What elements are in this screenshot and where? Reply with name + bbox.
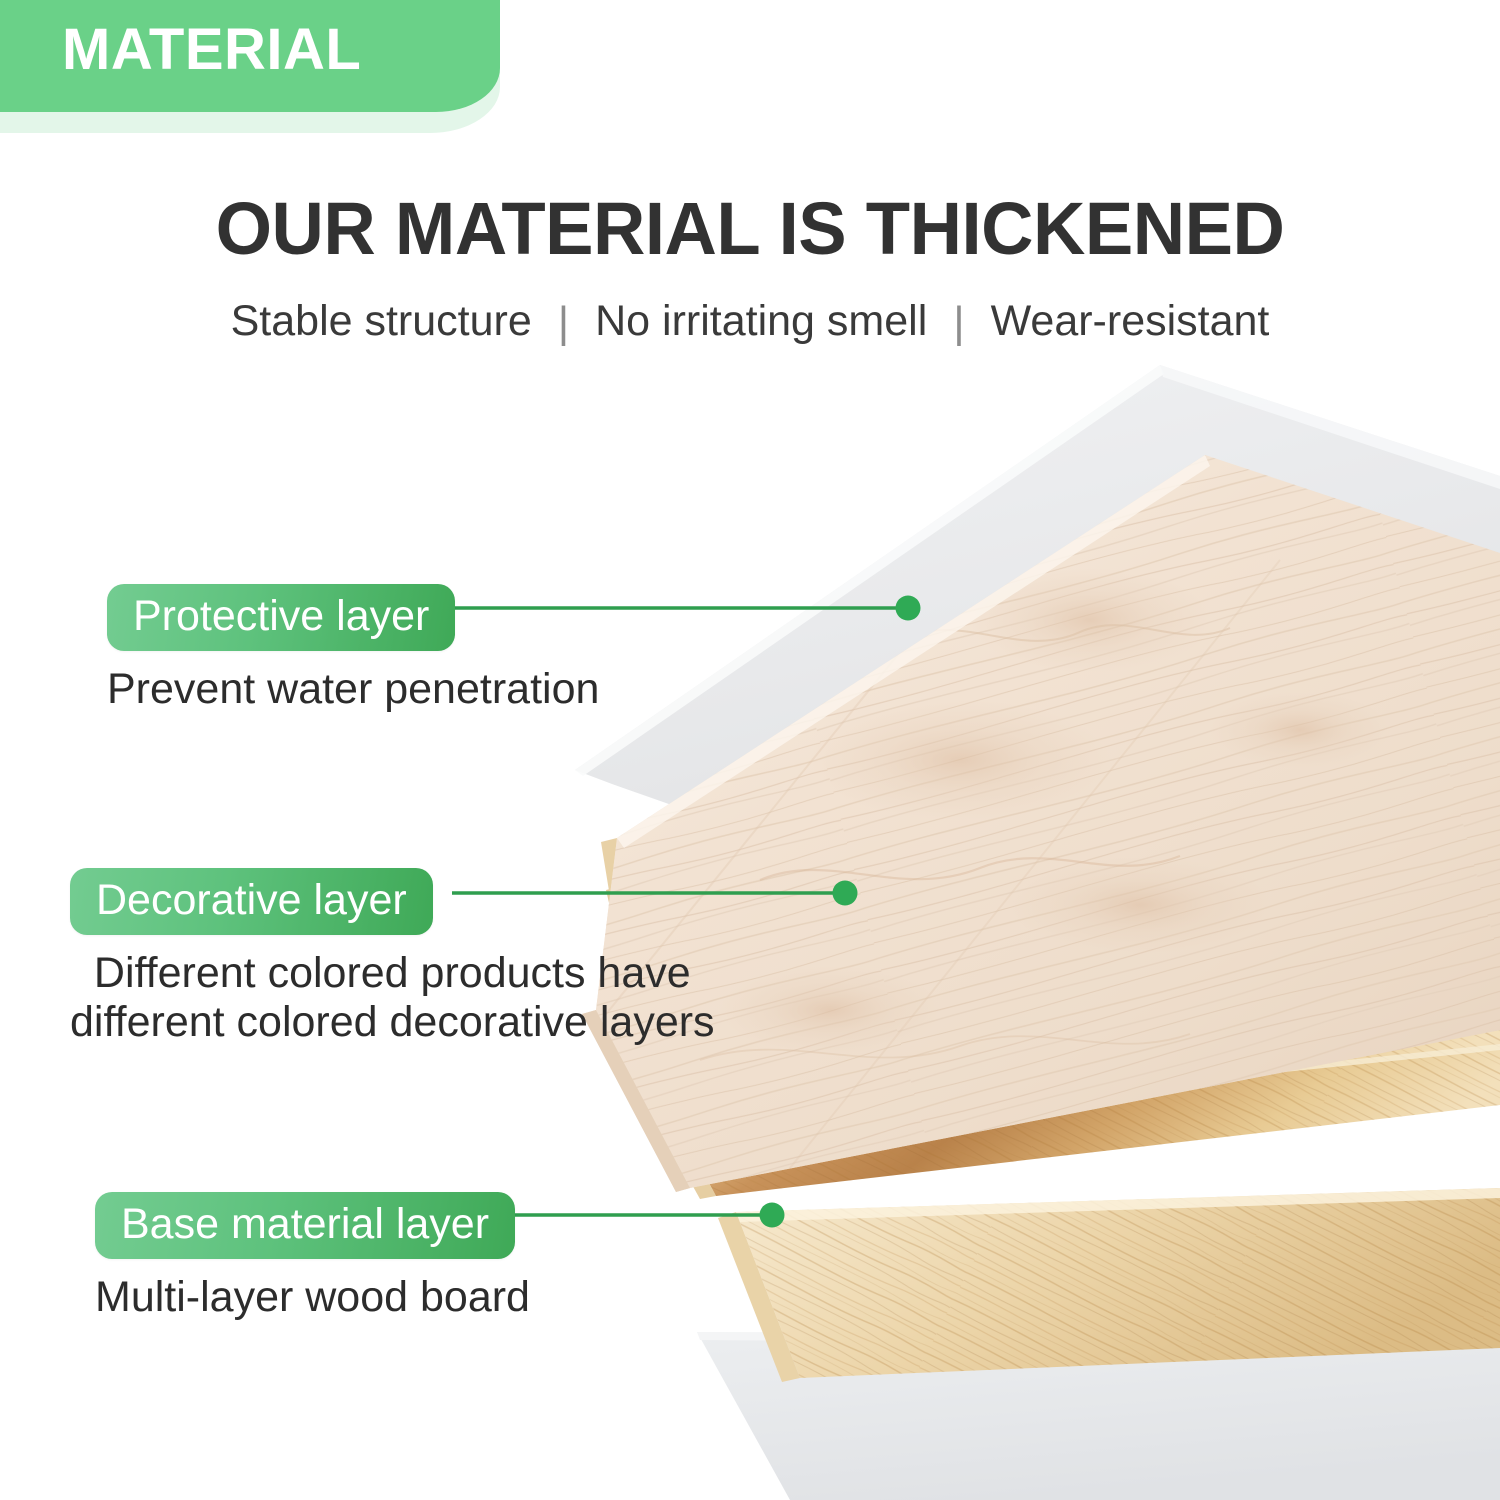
feature-separator-2: | — [953, 298, 964, 348]
callout-decorative-layer: Decorative layer Different colored produ… — [70, 868, 715, 1047]
feature-separator-1: | — [558, 298, 569, 348]
callout-description-protective: Prevent water penetration — [107, 665, 599, 714]
banner-label: MATERIAL — [62, 18, 361, 82]
callout-description-decorative-line1: Different colored products have — [94, 949, 691, 997]
page-title: OUR MATERIAL IS THICKENED — [15, 186, 1485, 271]
callout-label-protective: Protective layer — [107, 584, 455, 651]
base-board — [718, 1188, 1500, 1396]
infographic-page: MATERIAL OUR MATERIAL IS THICKENED Stabl… — [0, 0, 1500, 1500]
callout-label-base: Base material layer — [95, 1192, 515, 1259]
leader-dot-decorative — [833, 881, 858, 906]
feature-item-3: Wear-resistant — [991, 297, 1270, 345]
callout-description-decorative: Different colored products have differen… — [70, 949, 715, 1047]
feature-item-1: Stable structure — [231, 297, 532, 345]
callout-protective-layer: Protective layer Prevent water penetrati… — [107, 584, 599, 714]
callout-label-decorative: Decorative layer — [70, 868, 433, 935]
callout-description-base-line1: Multi-layer wood board — [95, 1273, 530, 1321]
leader-dot-base — [760, 1203, 785, 1228]
ply-stack — [601, 696, 1500, 1199]
leader-dot-protective — [896, 596, 921, 621]
callout-base-material-layer: Base material layer Multi-layer wood boa… — [95, 1192, 530, 1322]
callout-description-base: Multi-layer wood board — [95, 1273, 530, 1322]
bottom-protective-sheet — [697, 1332, 1500, 1500]
callout-description-protective-line1: Prevent water penetration — [107, 665, 599, 713]
callout-description-decorative-line2: different colored decorative layers — [70, 998, 715, 1047]
feature-list: Stable structure | No irritating smell |… — [0, 296, 1500, 346]
feature-item-2: No irritating smell — [595, 297, 927, 345]
decorative-top-board-overlay — [520, 430, 1500, 1230]
decorative-top-board — [520, 430, 1500, 1230]
